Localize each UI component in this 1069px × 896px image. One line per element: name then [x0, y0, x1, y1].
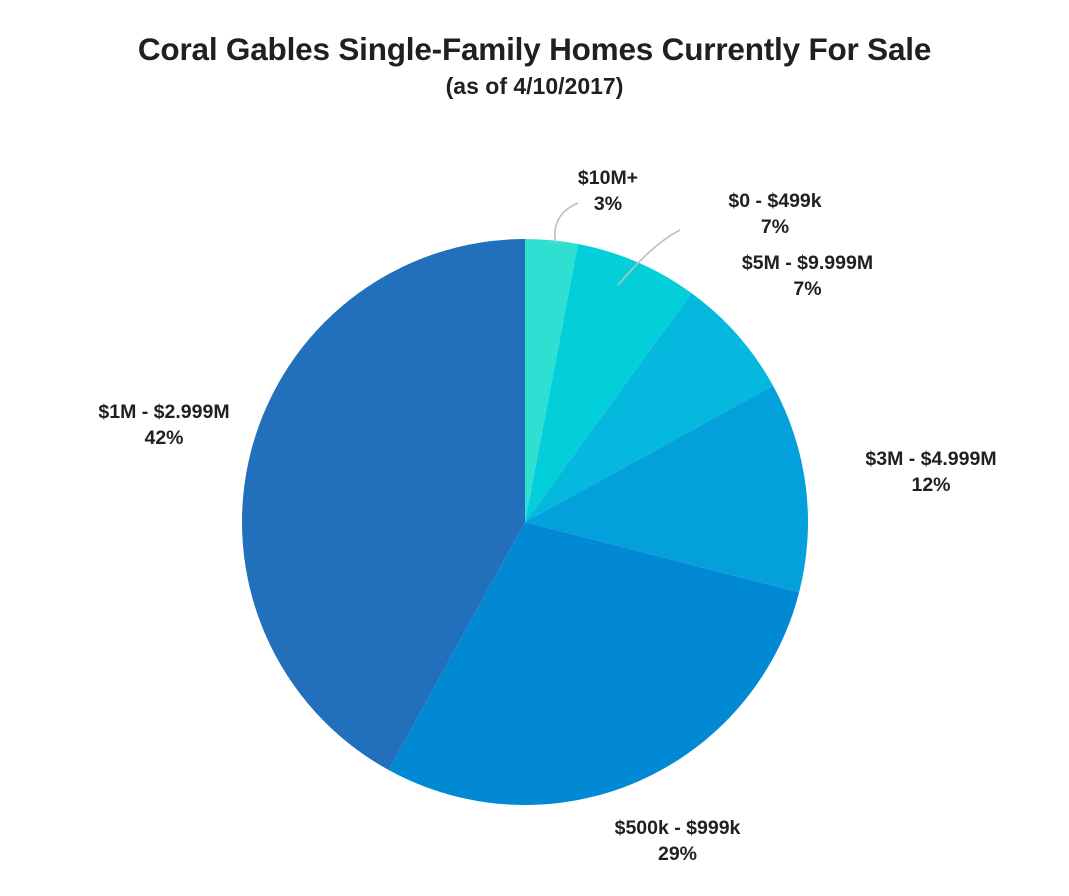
slice-label-percent: 7% [710, 276, 905, 302]
slice-label-percent: 7% [695, 214, 855, 240]
slice-label-3m-4999m: $3M - $4.999M 12% [832, 446, 1030, 499]
slice-label-name: $500k - $999k [575, 815, 780, 841]
slice-label-name: $1M - $2.999M [66, 399, 262, 425]
slice-label-percent: 42% [66, 425, 262, 451]
slice-label-1m-2999m: $1M - $2.999M 42% [66, 399, 262, 452]
slice-label-name: $10M+ [533, 165, 683, 191]
slice-label-name: $3M - $4.999M [832, 446, 1030, 472]
slice-label-0-499k: $0 - $499k 7% [695, 188, 855, 241]
slice-label-10m-plus: $10M+ 3% [533, 165, 683, 218]
slice-label-percent: 12% [832, 472, 1030, 498]
pie-slice-group [242, 239, 808, 805]
slice-label-name: $0 - $499k [695, 188, 855, 214]
slice-label-percent: 29% [575, 841, 780, 867]
slice-label-500k-999k: $500k - $999k 29% [575, 815, 780, 868]
slice-label-5m-9999m: $5M - $9.999M 7% [710, 250, 905, 303]
pie-chart-figure: Coral Gables Single-Family Homes Current… [0, 0, 1069, 896]
slice-label-name: $5M - $9.999M [710, 250, 905, 276]
slice-label-percent: 3% [533, 191, 683, 217]
